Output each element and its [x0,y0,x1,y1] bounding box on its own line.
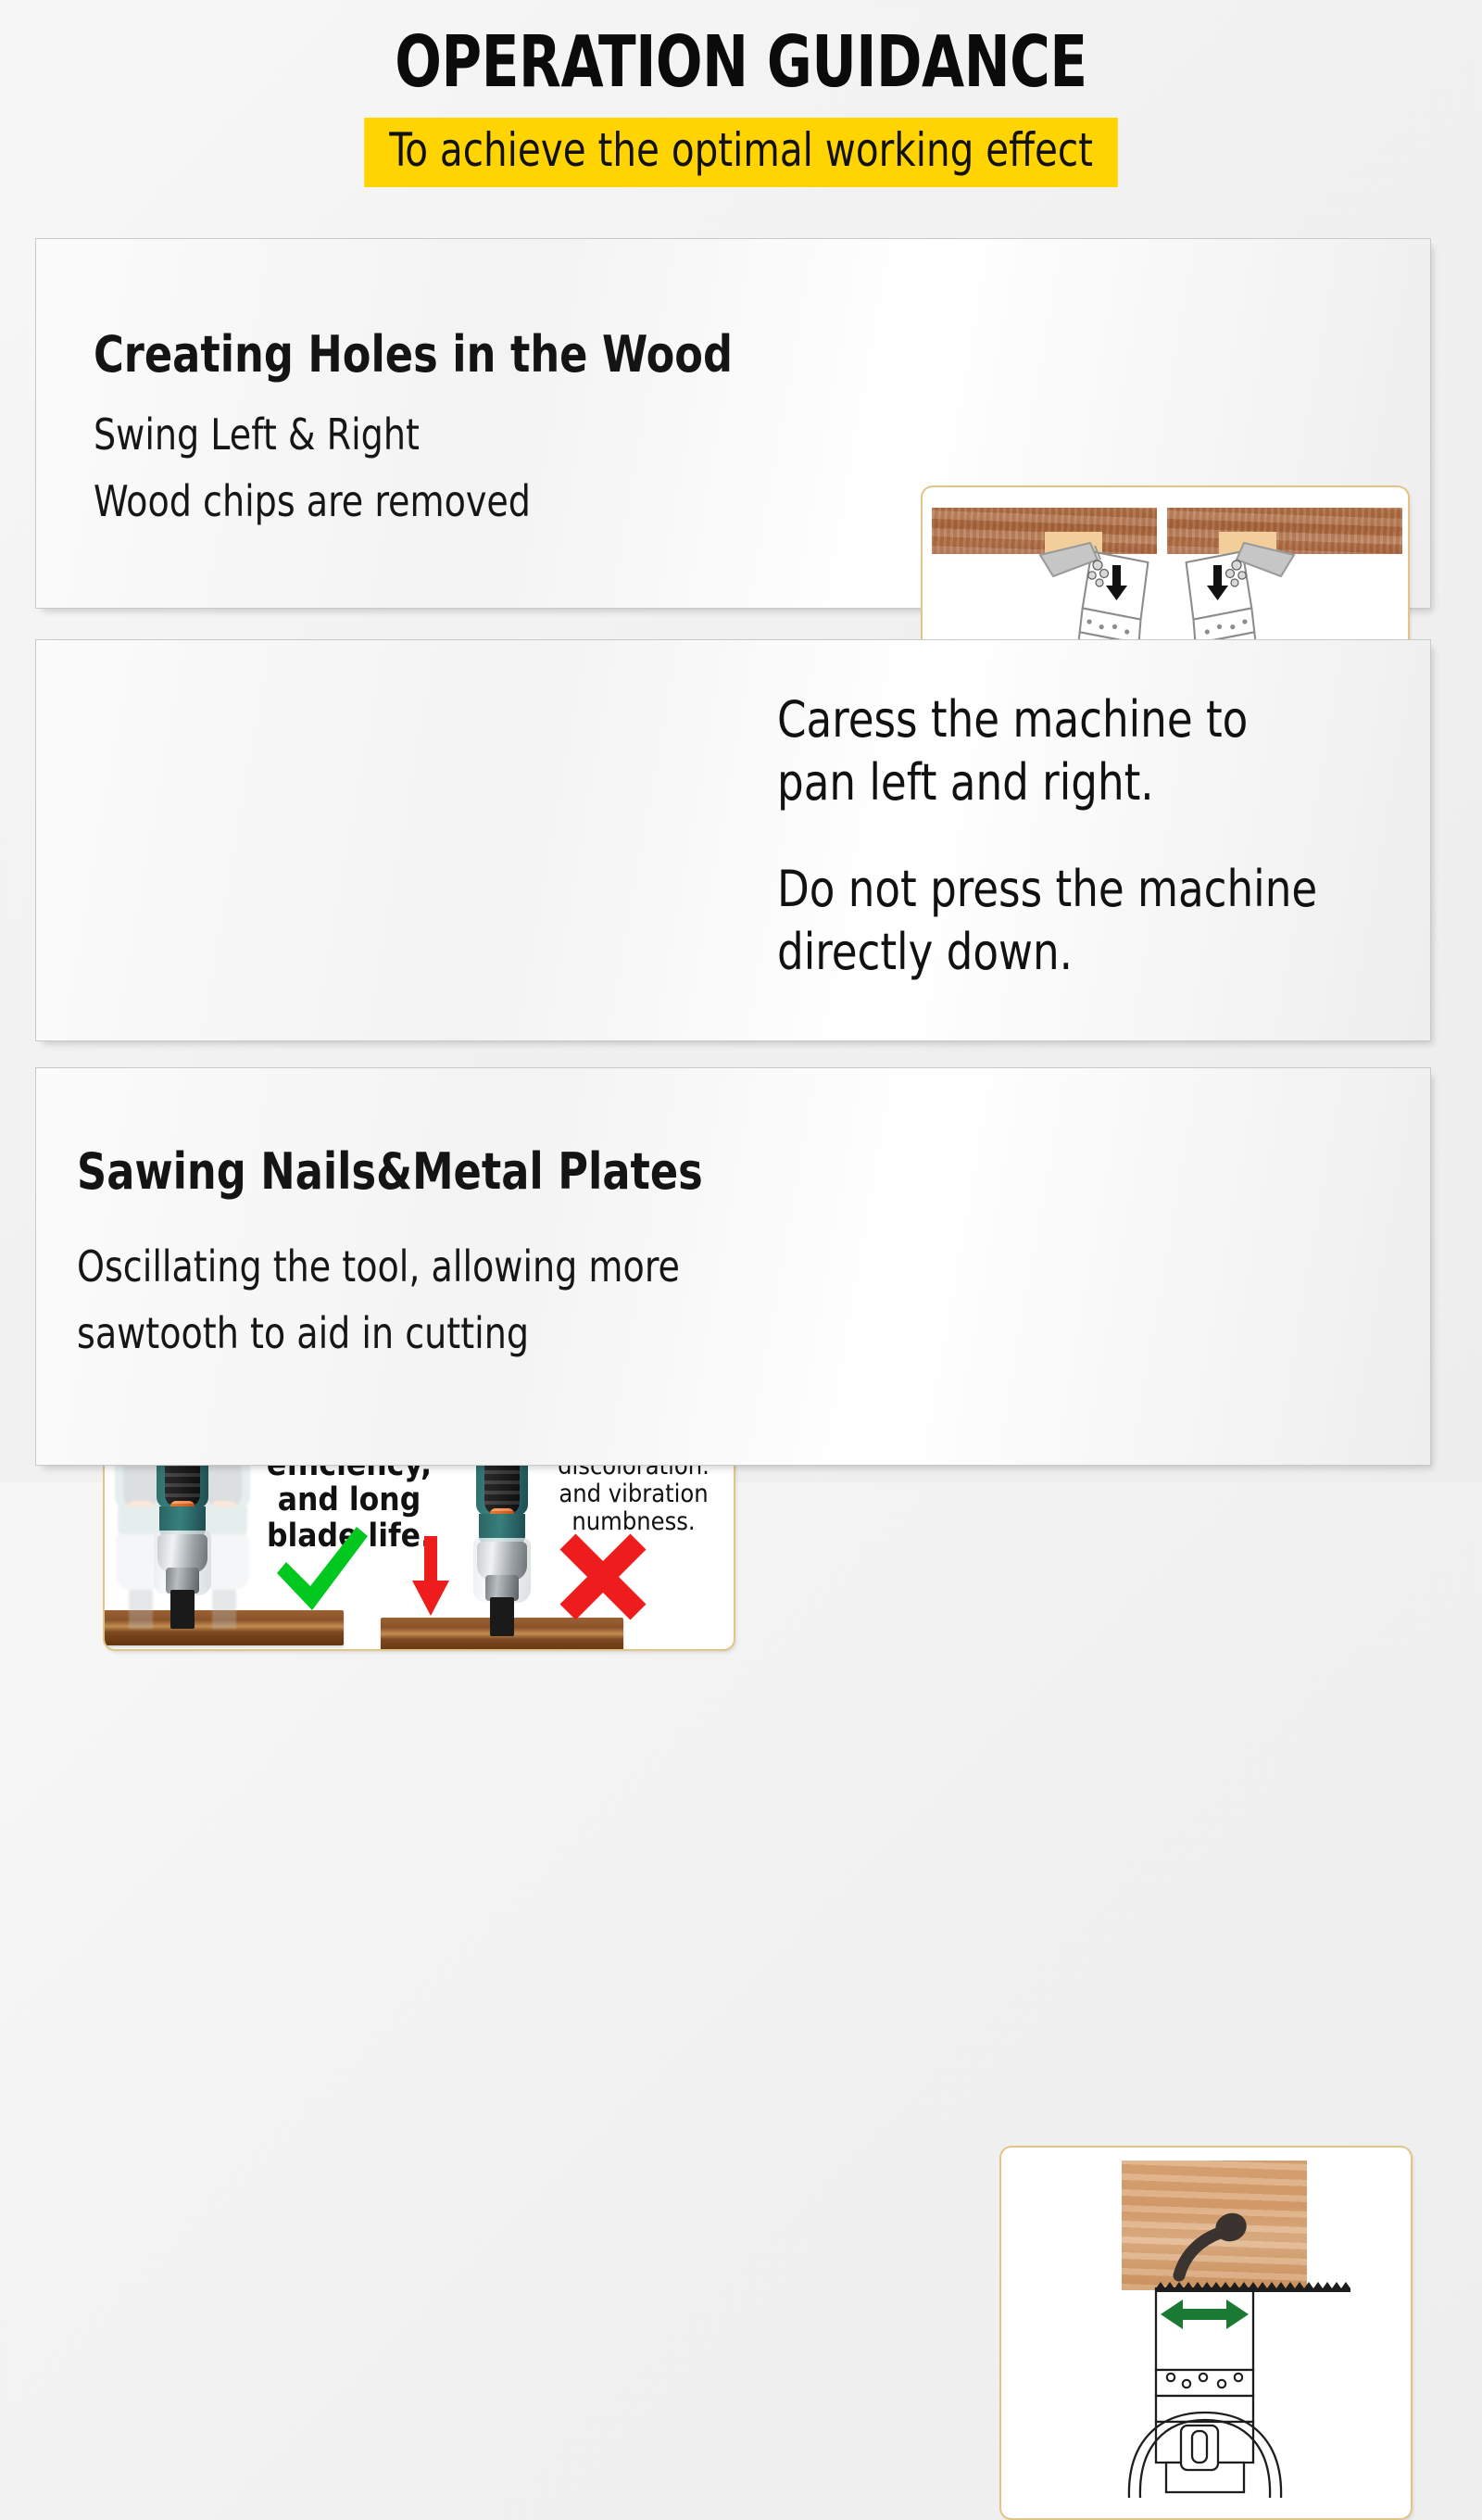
check-mark-icon [271,1521,373,1618]
down-arrow-icon [408,1534,453,1619]
page-title: OPERATION GUIDANCE [104,26,1378,101]
panel-3-line-art [1001,2148,1413,2520]
panel-3-text: Sawing Nails&Metal Plates Oscillating th… [77,1144,758,1367]
panel-sawing-nails: Sawing Nails&Metal Plates Oscillating th… [35,1067,1431,1466]
panel-1-line-1: Swing Left & Right [94,402,733,468]
panel-1-heading: Creating Holes in the Wood [94,327,733,382]
bent-nail-icon [1179,2233,1220,2275]
panel-1-line-2: Wood chips are removed [94,469,733,535]
panel-2-text: Caress the machine to pan left and right… [777,688,1407,983]
panel-3-illustration-card [999,2146,1413,2520]
panel-3-heading: Sawing Nails&Metal Plates [77,1144,703,1199]
panel-caress-machine: Caress the machine to pan left and right… [35,639,1431,1041]
subtitle-wrap: To achieve the optimal working effect [0,118,1482,187]
panel-3-line-2: sawtooth to aid in cutting [77,1301,703,1367]
page-subtitle-banner: To achieve the optimal working effect [364,118,1118,187]
panel-2-line-2: pan left and right. [777,751,1363,814]
panel-2-line-3: Do not press the machine [777,858,1363,921]
panel-creating-holes: Creating Holes in the Wood Swing Left & … [35,238,1431,609]
panel-1-text: Creating Holes in the Wood Swing Left & … [94,327,788,535]
sawtooth-blade [1156,2282,1350,2292]
header: OPERATION GUIDANCE To achieve the optima… [0,26,1482,187]
panel-2-line-1: Caress the machine to [777,688,1363,751]
infographic-page: OPERATION GUIDANCE To achieve the optima… [0,0,1482,1482]
panel-2-line-4: directly down. [777,921,1363,984]
panel-3-line-1: Oscillating the tool, allowing more [77,1234,703,1300]
cross-mark-icon [555,1531,651,1623]
